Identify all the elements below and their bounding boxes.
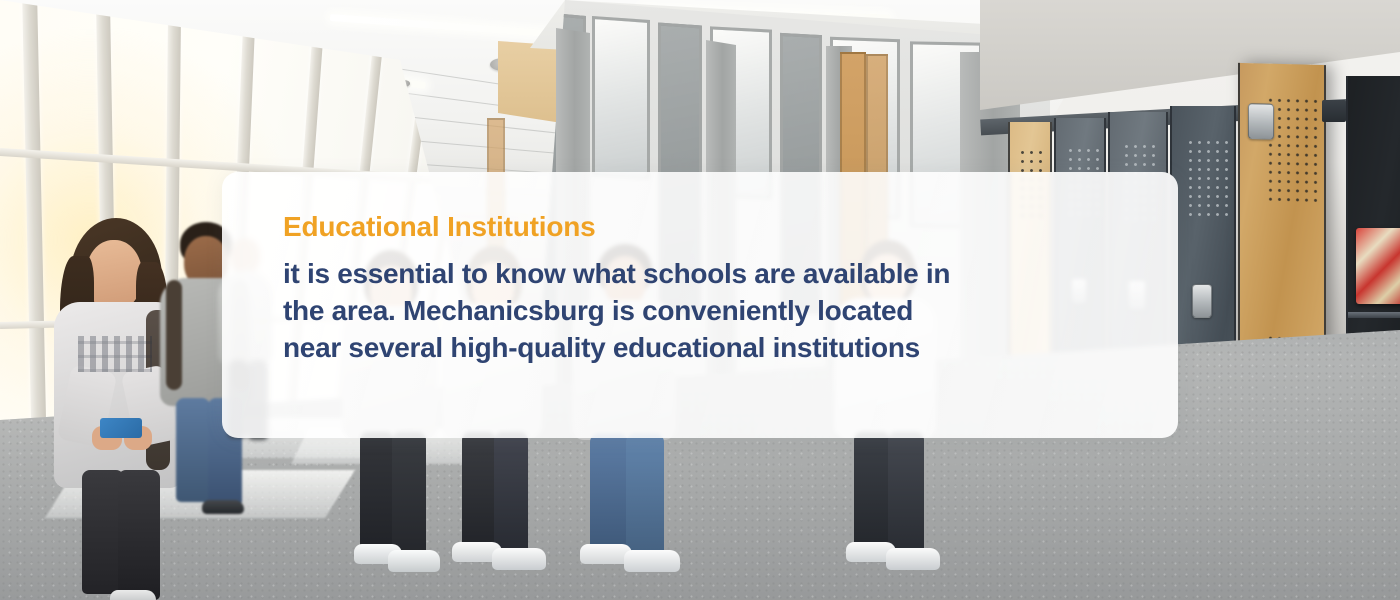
card-body-line: the area. Mechanicsburg is conveniently …	[283, 293, 1138, 330]
locker-shelf	[1348, 312, 1400, 318]
leg	[626, 434, 664, 560]
backpack-strap	[166, 280, 182, 390]
leg	[462, 432, 496, 552]
card-body-line: near several high-quality educational in…	[283, 330, 1138, 367]
hero-banner: Educational Institutions it is essential…	[0, 0, 1400, 600]
card-eyebrow-heading: Educational Institutions	[283, 212, 1138, 243]
locker-latch	[1248, 103, 1274, 140]
text-overlay-card: Educational Institutions it is essential…	[222, 172, 1178, 438]
leg	[590, 434, 628, 556]
smartphone	[100, 418, 142, 438]
locker-perforation	[1186, 138, 1228, 222]
window-pane	[592, 16, 650, 180]
card-body-copy: it is essential to know what schools are…	[283, 256, 1138, 367]
locker-hinge	[1322, 100, 1346, 122]
hoodie-graphic	[78, 336, 152, 372]
leg	[888, 432, 924, 558]
head	[86, 240, 142, 310]
shoe	[624, 550, 680, 572]
leg	[392, 432, 426, 558]
leg	[854, 432, 890, 554]
card-body-line: it is essential to know what schools are…	[283, 256, 1138, 293]
shoe	[492, 548, 546, 570]
locker-latch	[1192, 284, 1212, 318]
leg	[360, 432, 394, 554]
locker-contents	[1356, 228, 1400, 304]
shoe	[388, 550, 440, 572]
locker-top-wall	[980, 0, 1400, 110]
shoe	[886, 548, 940, 570]
locker-perforation	[1266, 96, 1320, 207]
leg	[176, 398, 210, 502]
shoe	[110, 590, 156, 600]
leg	[494, 432, 528, 556]
card-content: Educational Institutions it is essential…	[283, 212, 1138, 367]
shoe	[202, 500, 244, 514]
